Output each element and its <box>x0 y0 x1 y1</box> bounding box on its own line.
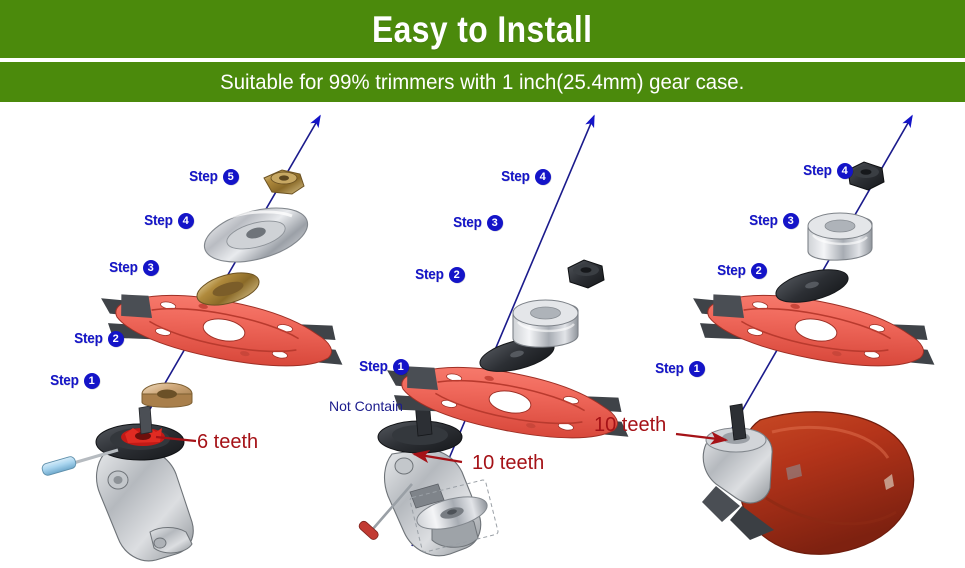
step-number-badge: 1 <box>84 373 100 389</box>
gear-case-left <box>96 406 193 561</box>
step-label-right-4[interactable]: Step 4 <box>800 162 853 179</box>
part-middle-step4-nut <box>568 260 604 288</box>
part-left-step4-cup-washer <box>199 198 314 272</box>
product-instruction-image: Easy to Install Suitable for 99% trimmer… <box>0 0 965 568</box>
part-right-step3-steel-cup <box>808 213 872 260</box>
step-number-badge: 2 <box>108 331 124 347</box>
part-middle-step3-steel-cup <box>513 300 578 347</box>
step-word: Step <box>655 360 684 377</box>
exploded-diagram-area: Step 5 Step 4 Step 3 Step 2 Step 1 6 tee… <box>0 102 965 568</box>
step-word: Step <box>803 162 832 179</box>
note-not-contain: Not Contain <box>329 398 403 414</box>
step-number-badge: 3 <box>143 260 159 276</box>
step-label-left-2[interactable]: Step 2 <box>71 330 124 347</box>
page-subtitle: Suitable for 99% trimmers with 1 inch(25… <box>220 72 744 93</box>
step-word: Step <box>109 259 138 276</box>
subtitle-banner: Suitable for 99% trimmers with 1 inch(25… <box>0 62 965 102</box>
step-word: Step <box>74 330 103 347</box>
step-label-left-3[interactable]: Step 3 <box>106 259 159 276</box>
step-number-badge: 1 <box>393 359 409 375</box>
part-left-step5-nut <box>264 170 304 194</box>
callout-10-teeth-middle: 10 teeth <box>472 452 544 475</box>
callout-6-teeth: 6 teeth <box>197 431 258 454</box>
assembly-middle <box>357 116 636 556</box>
step-label-left-4[interactable]: Step 4 <box>141 212 194 229</box>
step-word: Step <box>749 212 778 229</box>
step-label-middle-2[interactable]: Step 2 <box>412 266 465 283</box>
step-label-right-3[interactable]: Step 3 <box>746 212 799 229</box>
gear-case-right <box>702 404 914 554</box>
step-label-middle-3[interactable]: Step 3 <box>450 214 503 231</box>
step-word: Step <box>415 266 444 283</box>
step-label-right-1[interactable]: Step 1 <box>652 360 705 377</box>
title-banner: Easy to Install <box>0 0 965 58</box>
step-label-left-1[interactable]: Step 1 <box>47 372 100 389</box>
step-word: Step <box>453 214 482 231</box>
step-word: Step <box>359 358 388 375</box>
step-label-right-2[interactable]: Step 2 <box>714 262 767 279</box>
gear-case-middle <box>378 400 481 556</box>
step-number-badge: 3 <box>487 215 503 231</box>
step-number-badge: 2 <box>449 267 465 283</box>
step-number-badge: 4 <box>535 169 551 185</box>
step-number-badge: 5 <box>223 169 239 185</box>
callout-10-teeth-right: 10 teeth <box>594 414 666 437</box>
step-number-badge: 3 <box>783 213 799 229</box>
step-label-middle-4[interactable]: Step 4 <box>498 168 551 185</box>
step-word: Step <box>189 168 218 185</box>
step-number-badge: 1 <box>689 361 705 377</box>
step-word: Step <box>717 262 746 279</box>
step-word: Step <box>50 372 79 389</box>
assembly-right <box>676 116 942 554</box>
step-label-middle-1[interactable]: Step 1 <box>356 358 409 375</box>
part-left-step1-brass-cup <box>142 383 192 407</box>
step-number-badge: 2 <box>751 263 767 279</box>
step-word: Step <box>144 212 173 229</box>
step-label-left-5[interactable]: Step 5 <box>186 168 239 185</box>
step-number-badge: 4 <box>837 163 853 179</box>
step-word: Step <box>501 168 530 185</box>
step-number-badge: 4 <box>178 213 194 229</box>
page-title: Easy to Install <box>372 11 592 48</box>
part-right-step4-nut <box>848 162 884 190</box>
